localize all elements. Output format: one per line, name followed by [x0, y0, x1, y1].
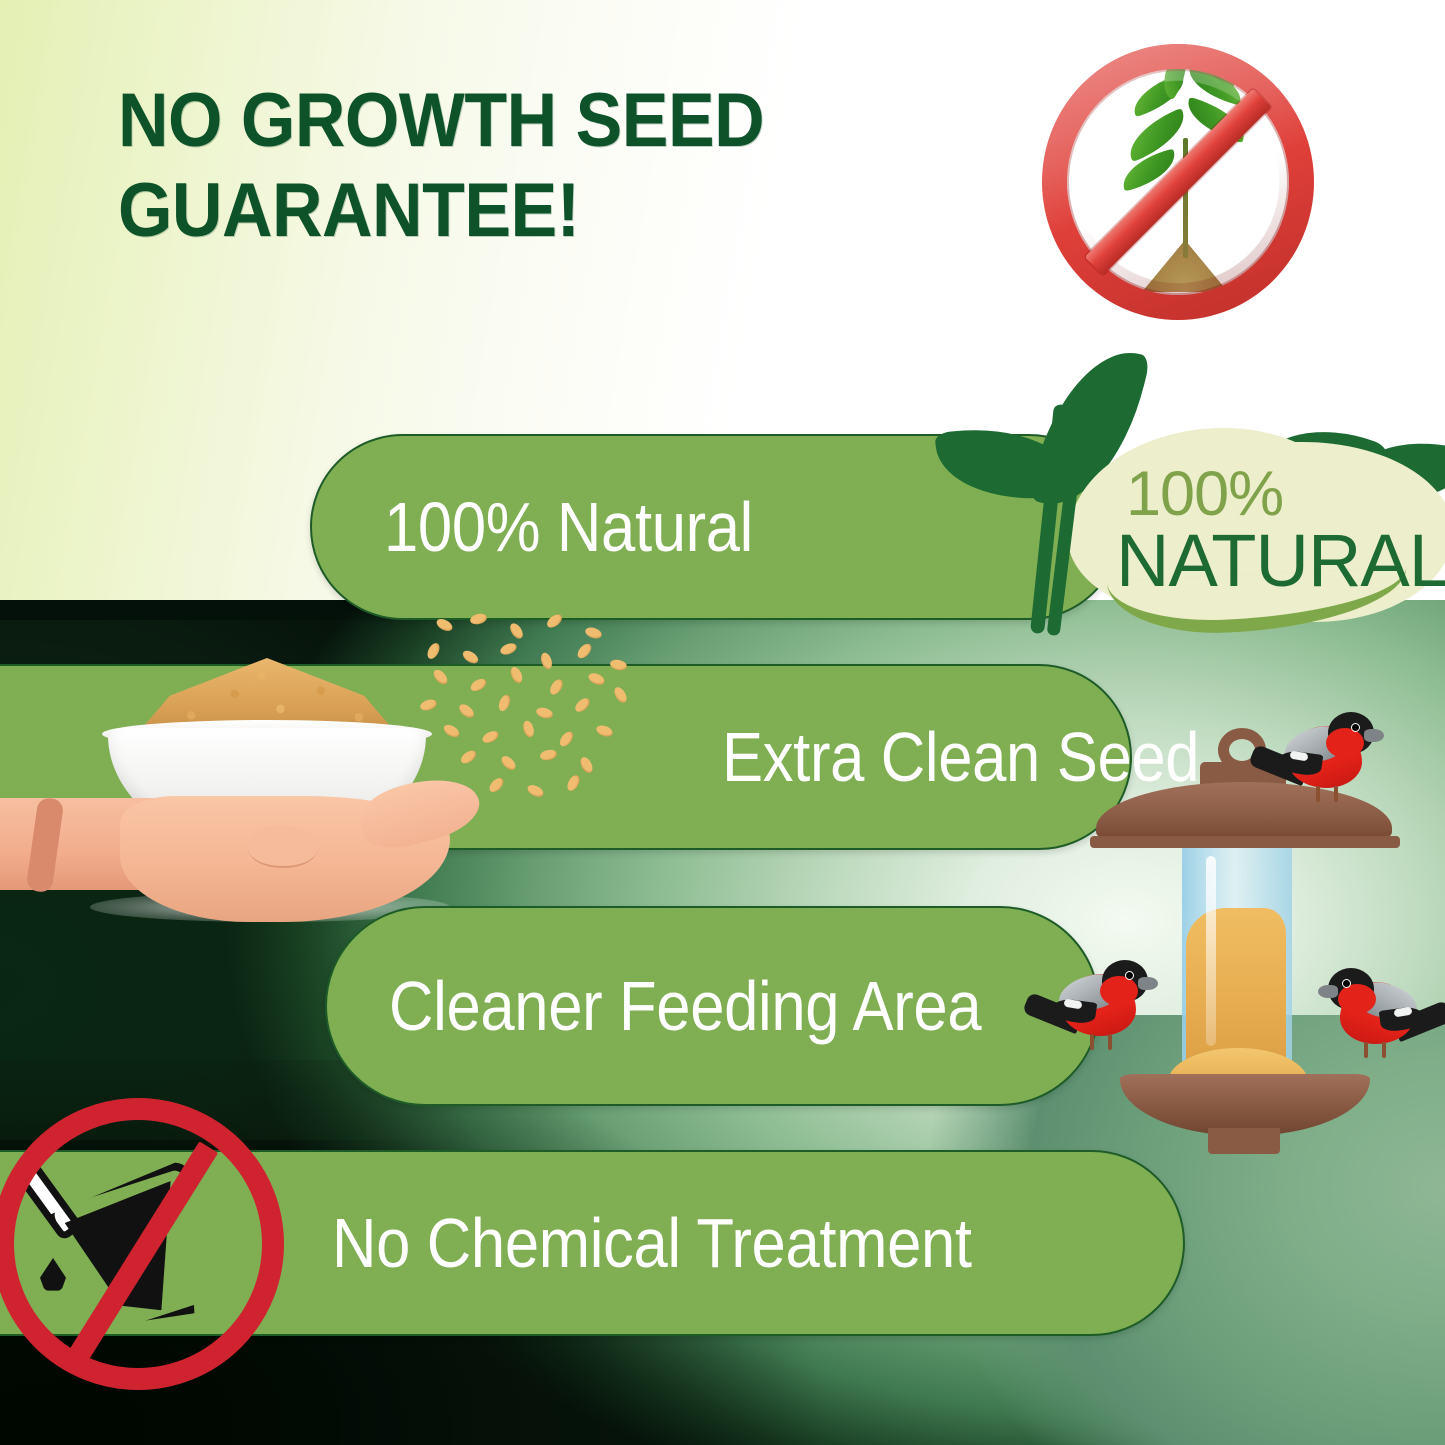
- title-line-2: GUARANTEE!: [118, 166, 946, 256]
- badge-word: NATURAL: [1116, 518, 1445, 603]
- no-growth-seedling-icon: [1042, 44, 1314, 320]
- bird-cheek: [1100, 976, 1138, 1006]
- bullfinch-bird: [1300, 968, 1430, 1098]
- natural-badge: 100% NATURAL: [958, 350, 1445, 650]
- no-chemical-flask-icon: [0, 1098, 292, 1410]
- bird-eye: [1125, 971, 1134, 980]
- bird-beak: [1318, 985, 1338, 998]
- bird-cheek: [1338, 984, 1376, 1014]
- bird-beak: [1364, 729, 1384, 742]
- bird-leg: [1316, 786, 1320, 802]
- bullfinch-bird: [1272, 712, 1402, 842]
- bird-leg: [1108, 1034, 1112, 1050]
- bullfinch-bird: [1046, 960, 1176, 1090]
- glass-glare: [1206, 856, 1216, 1046]
- thumb: [248, 826, 318, 868]
- bird-leg: [1364, 1042, 1368, 1058]
- bird-cheek: [1326, 728, 1364, 758]
- bird-beak: [1138, 977, 1158, 990]
- feature-label: 100% Natural: [384, 492, 753, 562]
- hand-holding-seed-bowl: [0, 640, 520, 930]
- feeder-seed-level: [1186, 908, 1286, 1064]
- feeder-base: [1208, 1128, 1280, 1154]
- bird-leg: [1382, 1042, 1386, 1058]
- bird-eye: [1351, 723, 1360, 732]
- feature-label: Cleaner Feeding Area: [389, 971, 981, 1041]
- infographic-canvas: NO GROWTH SEED GUARANTEE! 100% Natural: [0, 0, 1445, 1445]
- page-title: NO GROWTH SEED GUARANTEE!: [118, 76, 946, 257]
- title-line-1: NO GROWTH SEED: [118, 76, 946, 166]
- bird-leg: [1090, 1034, 1094, 1050]
- bird-eye: [1342, 979, 1351, 988]
- feature-label: No Chemical Treatment: [332, 1208, 972, 1278]
- feature-pill-cleaner-feeding-area[interactable]: Cleaner Feeding Area: [325, 906, 1100, 1106]
- bird-leg: [1334, 786, 1338, 802]
